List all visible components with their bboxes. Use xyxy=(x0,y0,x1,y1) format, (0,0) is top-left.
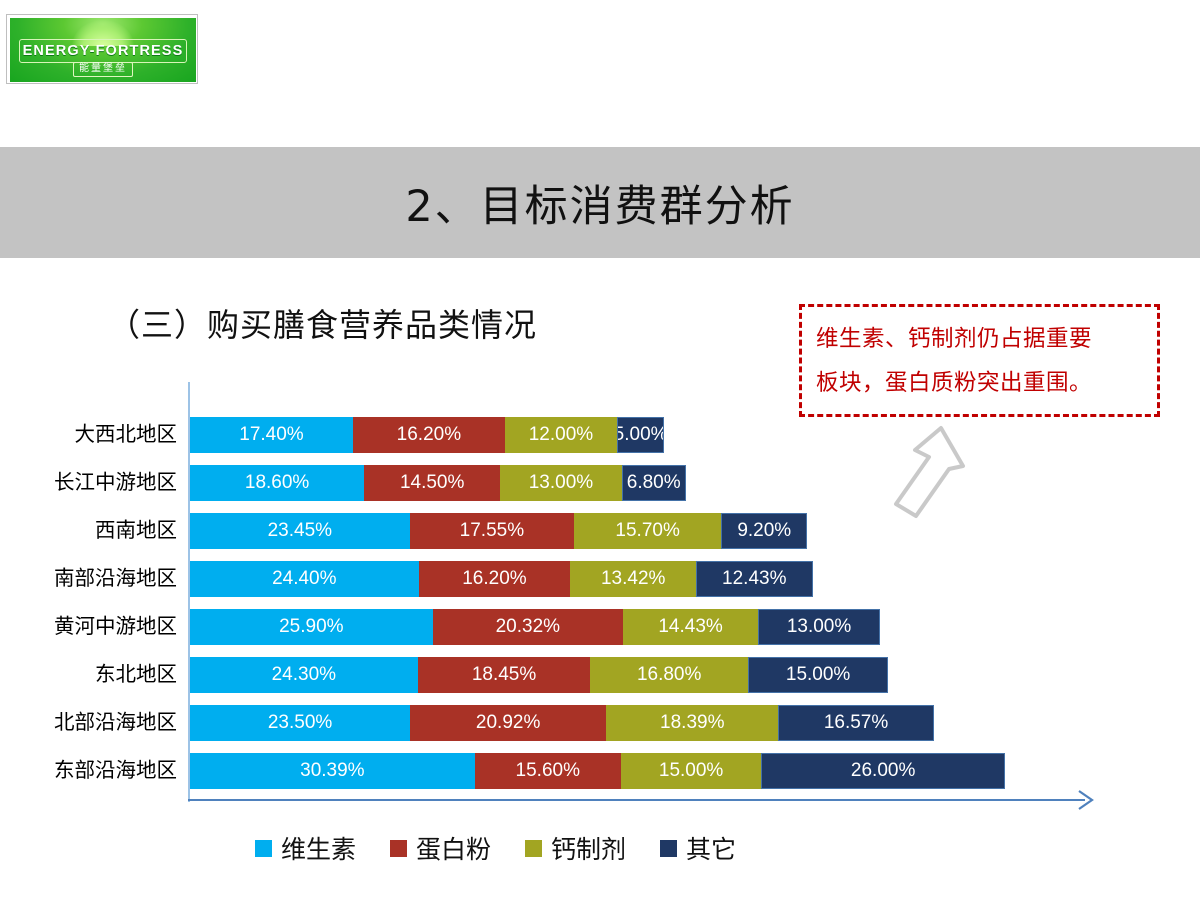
category-label: 西南地区 xyxy=(0,510,177,550)
stacked-bar: 18.60%14.50%13.00%6.80% xyxy=(190,465,686,501)
bar-segment: 18.45% xyxy=(418,657,591,693)
bar-segment: 26.00% xyxy=(761,753,1005,789)
category-label: 长江中游地区 xyxy=(0,462,177,502)
stacked-bar: 24.40%16.20%13.42%12.43% xyxy=(190,561,813,597)
bar-segment: 16.20% xyxy=(419,561,571,597)
legend-item[interactable]: 蛋白粉 xyxy=(390,830,491,866)
stacked-bar: 24.30%18.45%16.80%15.00% xyxy=(190,657,888,693)
bar-segment: 13.42% xyxy=(570,561,696,597)
legend-item[interactable]: 钙制剂 xyxy=(525,830,626,866)
bar-segment: 25.90% xyxy=(190,609,433,645)
bar-segment: 18.60% xyxy=(190,465,364,501)
bar-segment: 17.55% xyxy=(410,513,574,549)
stacked-bar-chart: 大西北地区17.40%16.20%12.00%5.00%长江中游地区18.60%… xyxy=(0,0,1200,900)
bar-segment: 18.39% xyxy=(606,705,778,741)
stacked-bar: 25.90%20.32%14.43%13.00% xyxy=(190,609,880,645)
legend-label: 钙制剂 xyxy=(551,830,626,866)
bar-segment: 12.43% xyxy=(696,561,812,597)
stacked-bar: 23.50%20.92%18.39%16.57% xyxy=(190,705,934,741)
bar-segment: 20.32% xyxy=(433,609,623,645)
category-label: 南部沿海地区 xyxy=(0,558,177,598)
bar-segment: 14.43% xyxy=(623,609,758,645)
bar-segment: 16.80% xyxy=(590,657,747,693)
bar-segment: 12.00% xyxy=(505,417,617,453)
bar-segment: 23.50% xyxy=(190,705,410,741)
bar-segment: 15.00% xyxy=(621,753,762,789)
legend-item[interactable]: 其它 xyxy=(660,830,736,866)
bar-segment: 20.92% xyxy=(410,705,606,741)
bar-segment: 24.40% xyxy=(190,561,419,597)
category-label: 东北地区 xyxy=(0,654,177,694)
category-label: 北部沿海地区 xyxy=(0,702,177,742)
chart-legend: 维生素蛋白粉钙制剂其它 xyxy=(255,830,736,866)
category-label: 大西北地区 xyxy=(0,414,177,454)
bar-segment: 16.20% xyxy=(353,417,505,453)
bar-segment: 23.45% xyxy=(190,513,410,549)
category-label: 黄河中游地区 xyxy=(0,606,177,646)
bar-segment: 17.40% xyxy=(190,417,353,453)
stacked-bar: 30.39%15.60%15.00%26.00% xyxy=(190,753,1005,789)
stacked-bar: 17.40%16.20%12.00%5.00% xyxy=(190,417,664,453)
x-axis xyxy=(188,799,1085,801)
legend-item[interactable]: 维生素 xyxy=(255,830,356,866)
legend-label: 蛋白粉 xyxy=(416,830,491,866)
bar-segment: 15.60% xyxy=(475,753,621,789)
bar-segment: 13.00% xyxy=(758,609,880,645)
x-axis-arrowhead xyxy=(1073,787,1099,813)
bar-segment: 13.00% xyxy=(500,465,622,501)
legend-swatch-icon xyxy=(255,840,272,857)
category-label: 东部沿海地区 xyxy=(0,750,177,790)
bar-segment: 14.50% xyxy=(364,465,500,501)
bar-segment: 5.00% xyxy=(617,417,664,453)
stacked-bar: 23.45%17.55%15.70%9.20% xyxy=(190,513,807,549)
legend-swatch-icon xyxy=(390,840,407,857)
bar-segment: 16.57% xyxy=(778,705,933,741)
bar-segment: 6.80% xyxy=(622,465,686,501)
legend-swatch-icon xyxy=(660,840,677,857)
bar-segment: 24.30% xyxy=(190,657,418,693)
legend-label: 其它 xyxy=(686,830,736,866)
bar-segment: 30.39% xyxy=(190,753,475,789)
legend-label: 维生素 xyxy=(281,830,356,866)
bar-segment: 9.20% xyxy=(721,513,807,549)
bar-segment: 15.70% xyxy=(574,513,721,549)
bar-segment: 15.00% xyxy=(748,657,889,693)
legend-swatch-icon xyxy=(525,840,542,857)
